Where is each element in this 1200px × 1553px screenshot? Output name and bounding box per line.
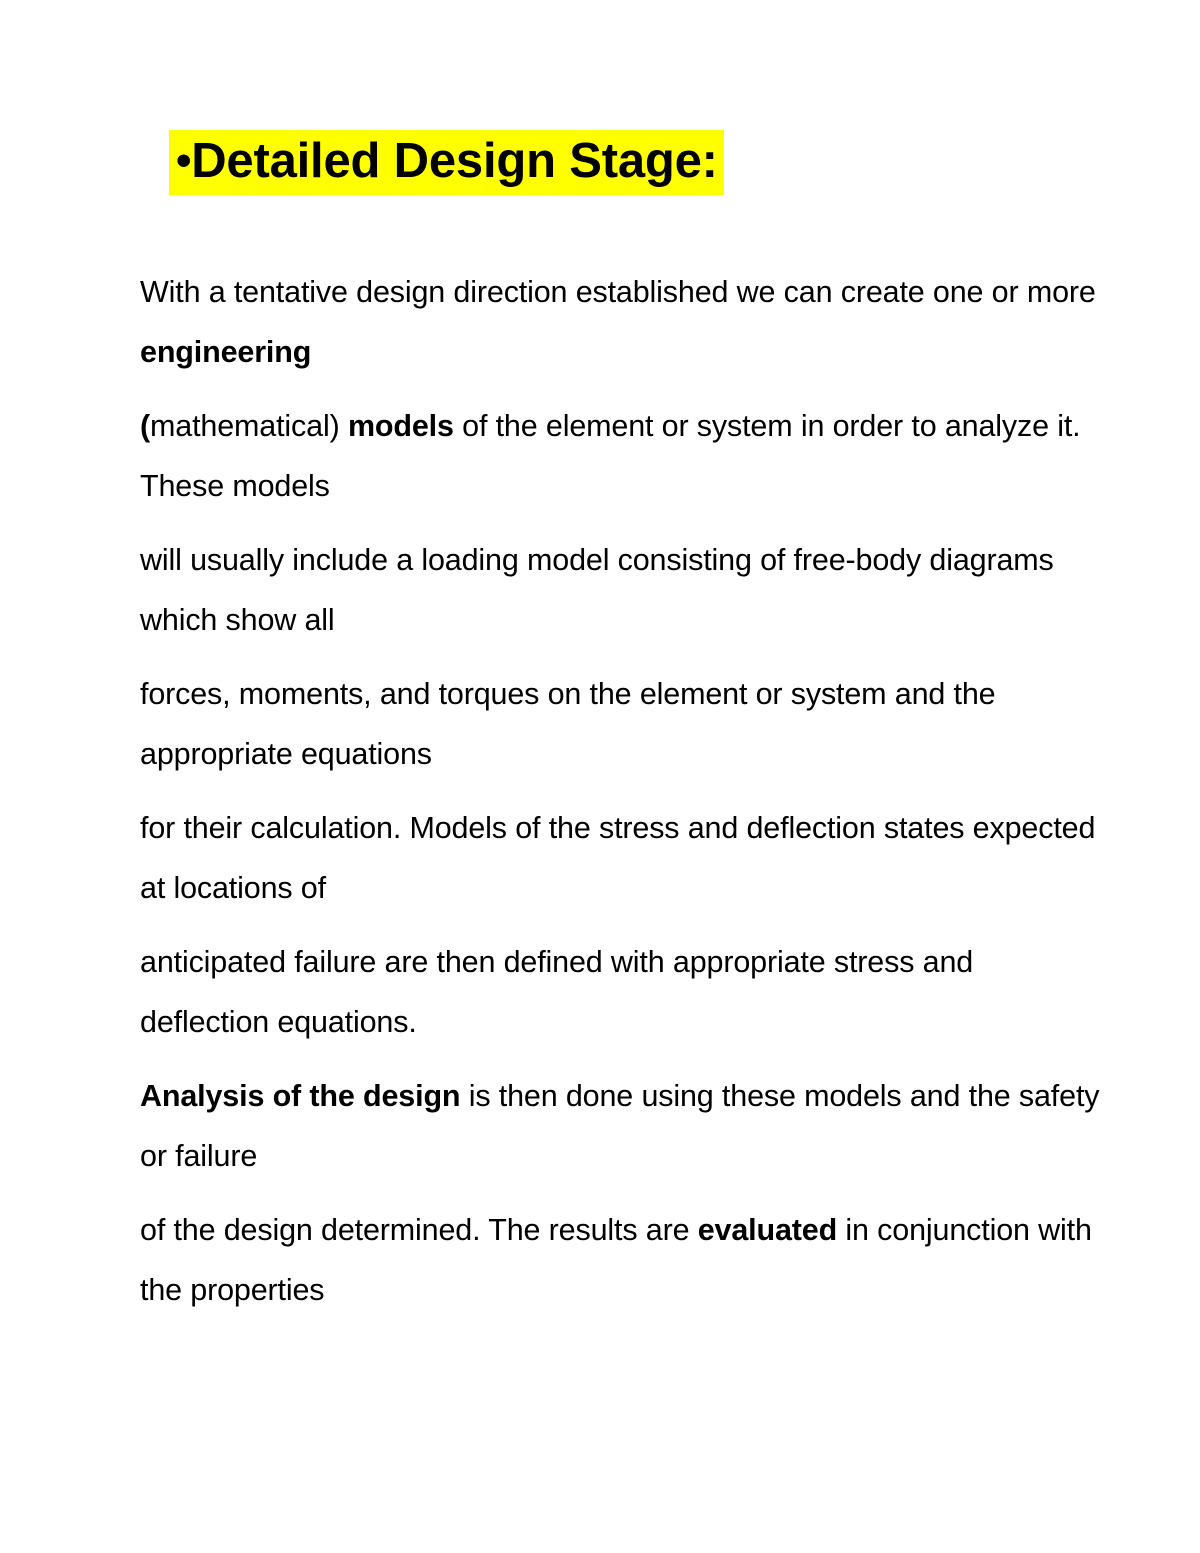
body-text-block: With a tentative design direction establ…	[140, 262, 1100, 1320]
paragraph: Analysis of the design is then done usin…	[140, 1066, 1100, 1186]
paragraph: With a tentative design direction establ…	[140, 262, 1100, 382]
section-heading-text: Detailed Design Stage:	[191, 134, 718, 188]
paragraph: will usually include a loading model con…	[140, 530, 1100, 650]
emphasis-text: evaluated	[698, 1213, 837, 1247]
paragraph-text: for their calculation. Models of the str…	[140, 811, 1104, 905]
paragraph-text: of the design determined. The results ar…	[140, 1213, 698, 1247]
paragraph-text: anticipated failure are then defined wit…	[140, 945, 981, 1039]
heading-block: •Detailed Design Stage:	[140, 130, 1100, 195]
paragraph-text: forces, moments, and torques on the elem…	[140, 677, 1004, 771]
emphasis-text: models	[348, 409, 454, 443]
emphasis-text: engineering	[140, 335, 311, 369]
paragraph: (mathematical) models of the element or …	[140, 396, 1100, 516]
paragraph: for their calculation. Models of the str…	[140, 798, 1100, 918]
paragraph: anticipated failure are then defined wit…	[140, 932, 1100, 1052]
emphasis-text: (	[140, 409, 150, 443]
section-heading-highlighted: •Detailed Design Stage:	[169, 130, 724, 195]
paragraph-text: will usually include a loading model con…	[140, 543, 1062, 637]
document-page: •Detailed Design Stage: With a tentative…	[0, 0, 1200, 1553]
bullet-icon: •	[176, 136, 191, 185]
emphasis-text: Analysis of the design	[140, 1079, 460, 1113]
paragraph-text: mathematical)	[150, 409, 348, 443]
paragraph: forces, moments, and torques on the elem…	[140, 664, 1100, 784]
paragraph: of the design determined. The results ar…	[140, 1200, 1100, 1320]
paragraph-text: With a tentative design direction establ…	[140, 275, 1104, 309]
